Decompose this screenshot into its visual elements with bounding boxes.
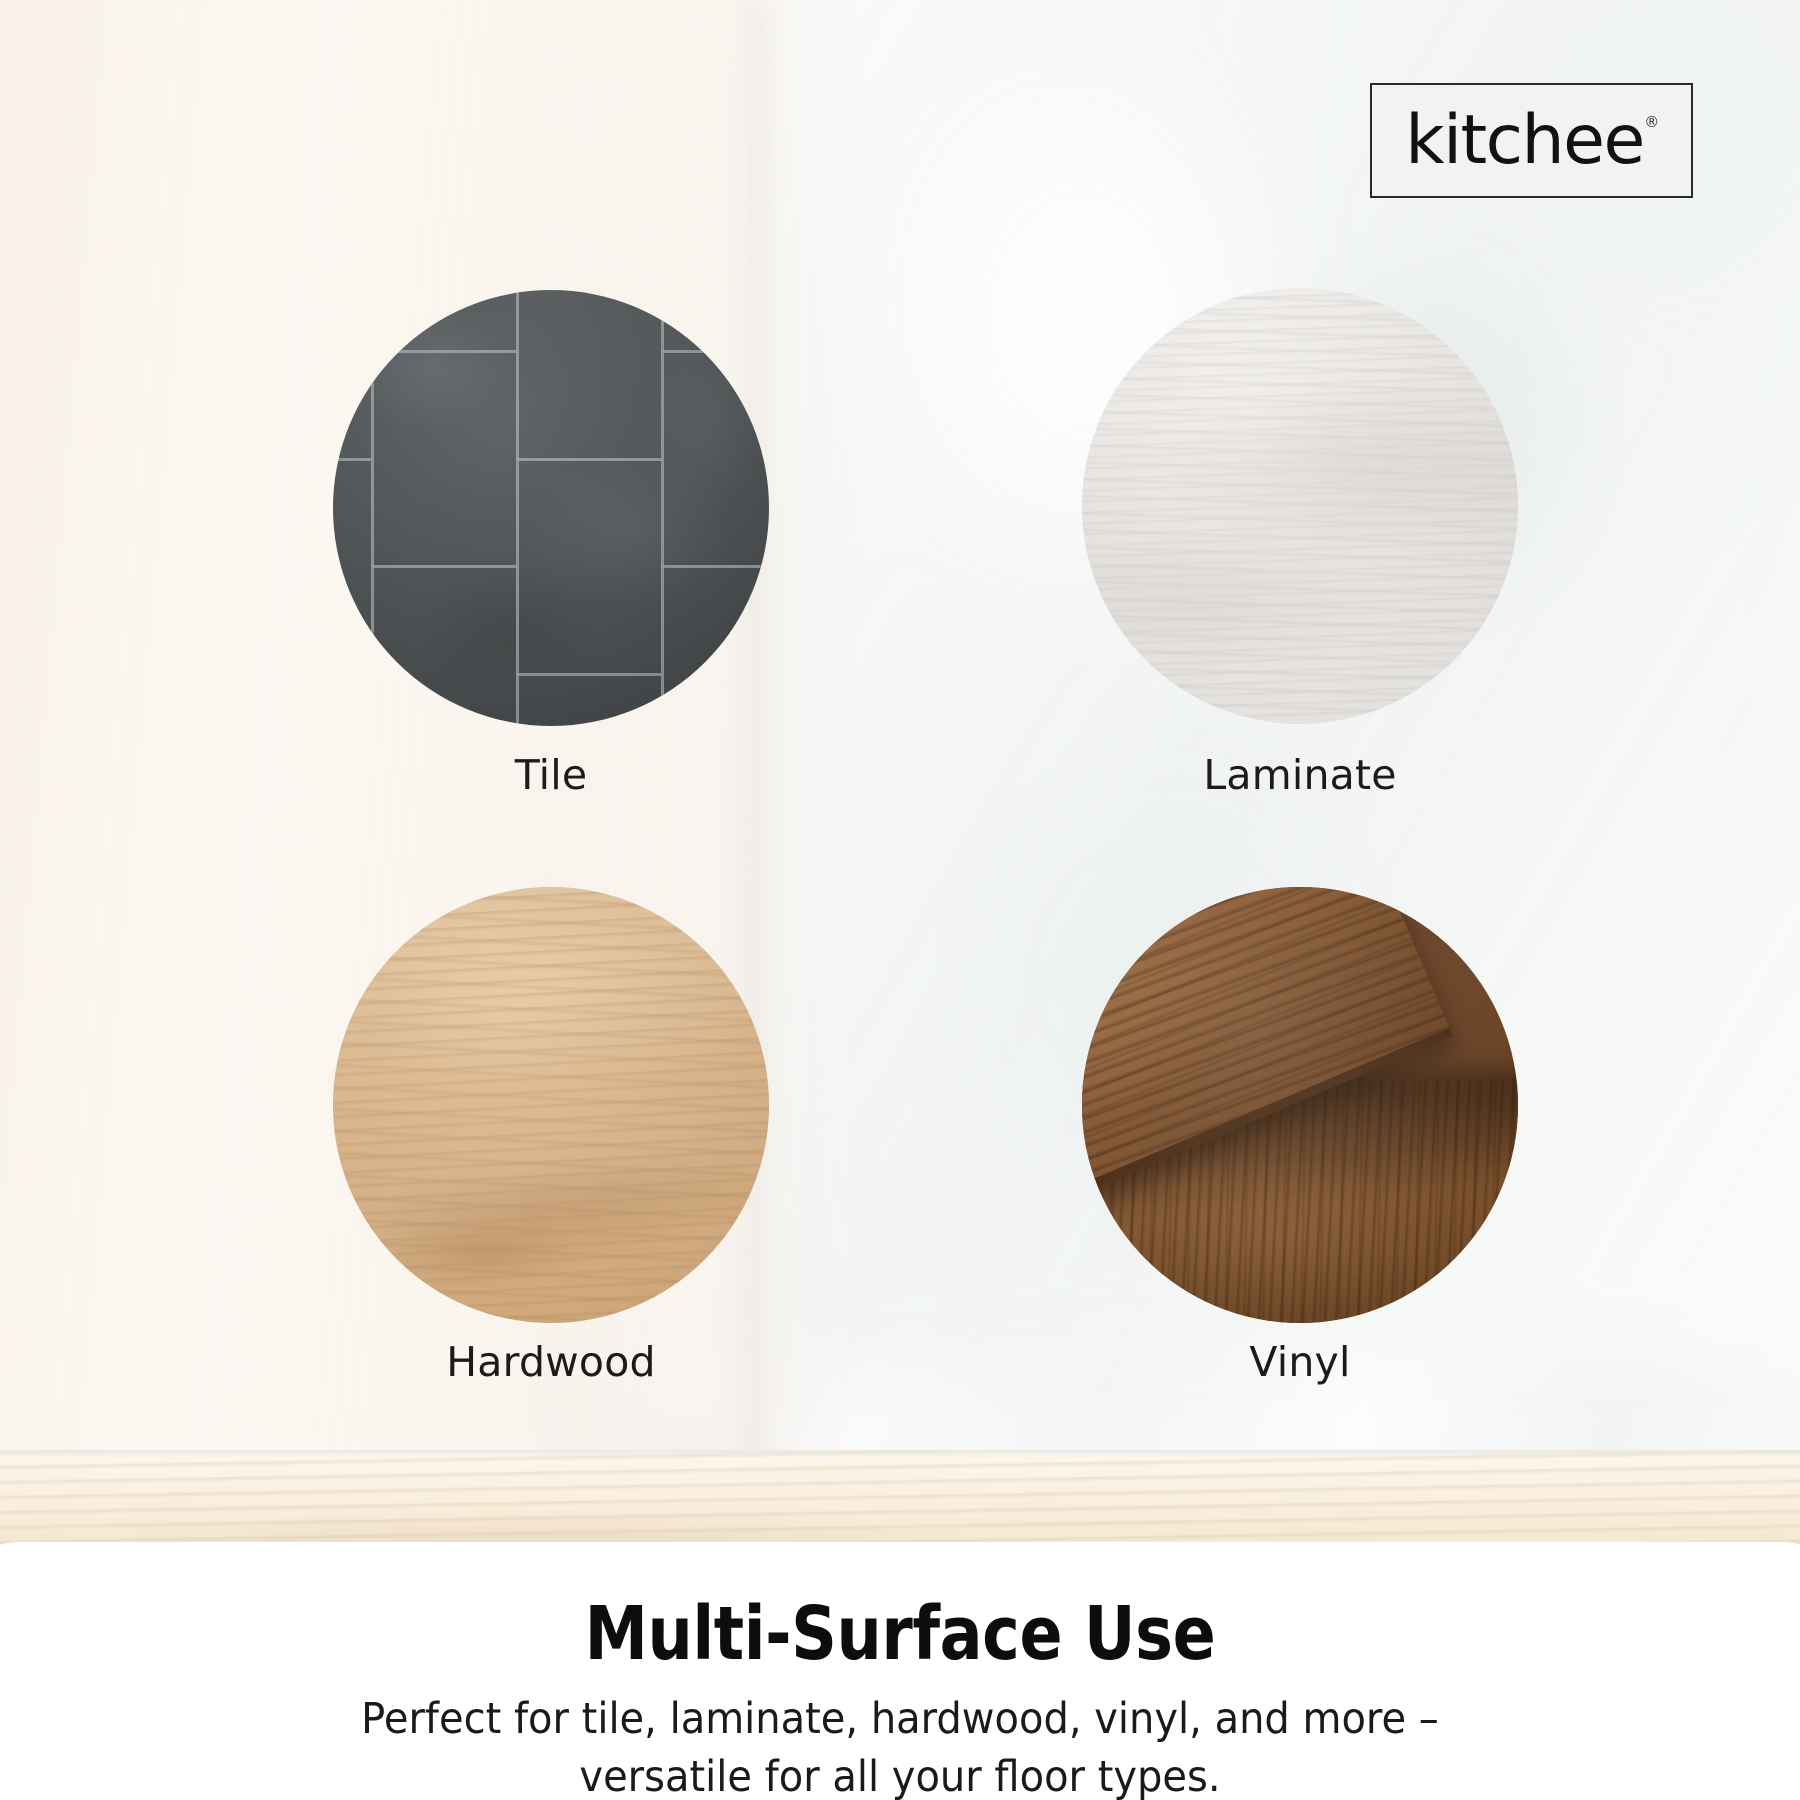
vinyl-surface-fill: [1082, 887, 1518, 1323]
brand-logo-wordmark: kitchee®: [1405, 107, 1658, 175]
page-subtitle-line-2: versatile for all your floor types.: [26, 1748, 1774, 1800]
hardwood-surface-fill: [333, 887, 769, 1323]
page-subtitle: Perfect for tile, laminate, hardwood, vi…: [26, 1690, 1774, 1800]
footer-card: Multi-Surface Use Perfect for tile, lami…: [0, 1542, 1800, 1800]
page-title: Multi-Surface Use: [92, 1596, 1709, 1674]
brand-logo-text: kitchee: [1405, 101, 1644, 180]
page-subtitle-line-1: Perfect for tile, laminate, hardwood, vi…: [361, 1694, 1439, 1744]
tile-grout-grid: [333, 290, 769, 726]
tile-texture-circle: [333, 290, 769, 726]
swatch-label-tile: Tile: [333, 751, 769, 799]
counter-top-edge: [0, 1450, 1800, 1458]
swatch-tile: [333, 290, 769, 726]
swatch-vinyl: [1082, 887, 1518, 1323]
laminate-texture-circle: [1082, 288, 1518, 724]
swatch-hardwood: [333, 887, 769, 1323]
registered-trademark-icon: ®: [1644, 115, 1658, 130]
swatch-label-laminate: Laminate: [1082, 751, 1518, 799]
hardwood-texture-circle: [333, 887, 769, 1323]
swatch-label-vinyl: Vinyl: [1082, 1338, 1518, 1386]
swatch-laminate: [1082, 288, 1518, 724]
vinyl-texture-circle: [1082, 887, 1518, 1323]
swatch-label-hardwood: Hardwood: [333, 1338, 769, 1386]
brand-logo: kitchee®: [1370, 83, 1693, 198]
infographic-canvas: kitchee® Tile: [0, 0, 1800, 1800]
laminate-surface-fill: [1082, 288, 1518, 724]
